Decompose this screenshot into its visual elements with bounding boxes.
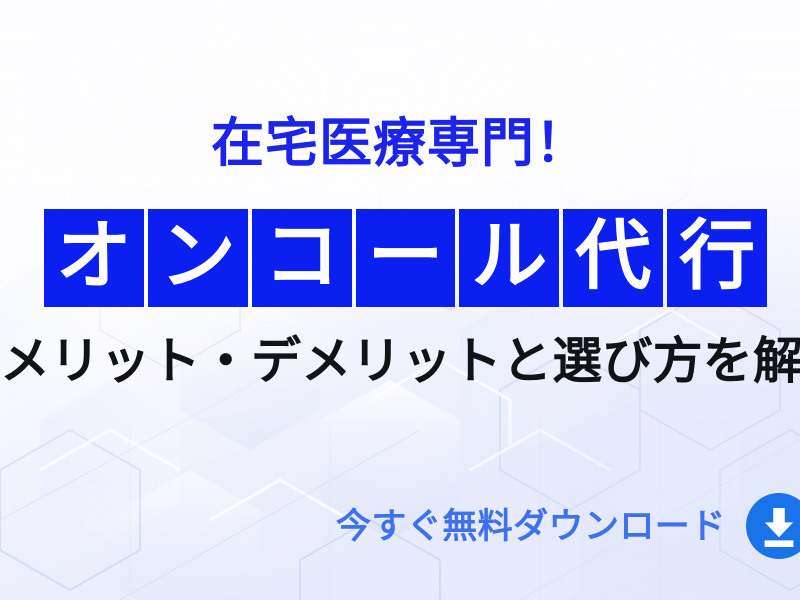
title-char-label: ン (160, 219, 236, 295)
download-cta-label[interactable]: 今すぐ無料ダウンロード (336, 509, 726, 544)
title-char-label: ル (471, 219, 547, 295)
main-title: オ ン コ ー ル 代 行 (44, 209, 767, 307)
title-char-label: 行 (679, 219, 755, 295)
title-char-label: コ (264, 219, 340, 295)
download-circle-icon[interactable] (746, 493, 800, 559)
title-char-box: 代 (563, 209, 663, 307)
title-char-label: オ (56, 219, 132, 295)
title-char-box: オ (44, 209, 144, 307)
title-char-box: ー (356, 209, 456, 307)
title-char-box: ン (148, 209, 248, 307)
subtitle: メリット・デメリットと選び方を解説 (0, 336, 800, 386)
title-char-box: コ (252, 209, 352, 307)
download-cta[interactable]: 今すぐ無料ダウンロード (336, 489, 768, 563)
banner-canvas: 在宅医療専門！ オ ン コ ー ル 代 行 メリット・デメリットと選び方を解説 … (0, 0, 800, 600)
title-char-box: 行 (667, 209, 767, 307)
eyebrow-headline: 在宅医療専門！ (0, 117, 800, 170)
title-char-box: ル (459, 209, 559, 307)
title-char-label: 代 (575, 219, 651, 295)
title-char-label: ー (368, 219, 444, 295)
